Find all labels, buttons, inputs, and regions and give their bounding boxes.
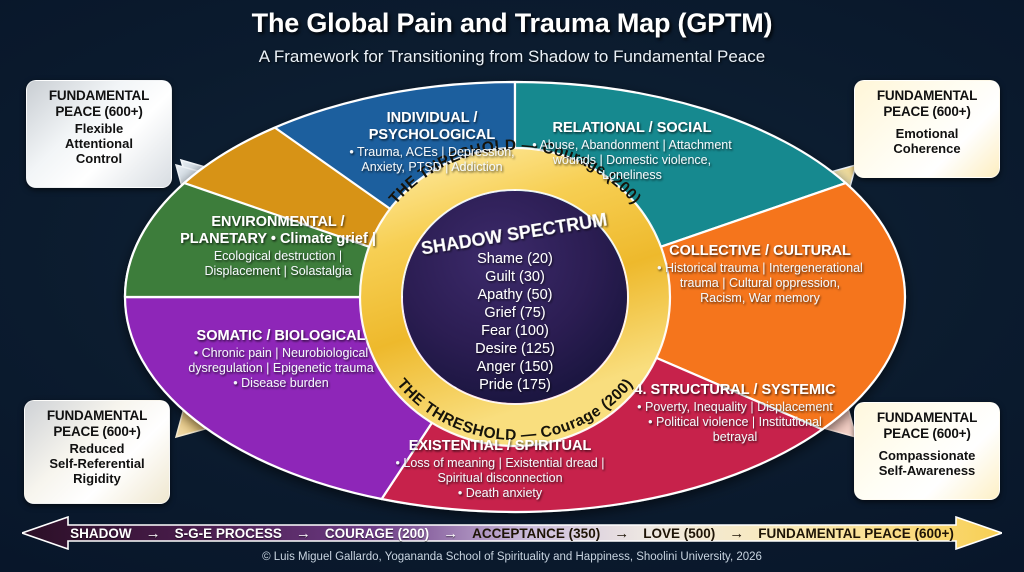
outcome-box-top-left[interactable]: FUNDAMENTAL PEACE (600+) Flexible Attent… — [26, 80, 172, 188]
progression-arrow-icon: → — [291, 525, 316, 542]
progression-step[interactable]: SHADOW — [61, 526, 141, 541]
progression-steps: SHADOW→S-G-E PROCESS→COURAGE (200)→ACCEP… — [22, 516, 1002, 550]
spectrum-item: Guilt (30) — [485, 269, 545, 285]
spectrum-item: Shame (20) — [477, 251, 553, 267]
outcome-head-line1: FUNDAMENTAL — [31, 408, 163, 424]
progression-step[interactable]: LOVE (500) — [634, 526, 724, 541]
progression-arrow-icon: → — [141, 525, 166, 542]
outcome-sub: Reduced Self-Referential Rigidity — [31, 442, 163, 487]
progression-bar: SHADOW→S-G-E PROCESS→COURAGE (200)→ACCEP… — [22, 516, 1002, 550]
progression-step[interactable]: COURAGE (200) — [316, 526, 438, 541]
outcome-box-top-right[interactable]: FUNDAMENTAL PEACE (600+) Emotional Coher… — [854, 80, 1000, 178]
outcome-head-line1: FUNDAMENTAL — [33, 88, 165, 104]
progression-arrow-icon: → — [609, 525, 634, 542]
outcome-sub: Flexible Attentional Control — [33, 122, 165, 167]
outcome-head-line2: PEACE (600+) — [861, 426, 993, 442]
spectrum-item: Apathy (50) — [478, 287, 553, 303]
outcome-sub: Emotional Coherence — [861, 127, 993, 157]
progression-arrow-icon: → — [438, 525, 463, 542]
outcome-head-line1: FUNDAMENTAL — [861, 88, 993, 104]
outcome-head-line1: FUNDAMENTAL — [861, 410, 993, 426]
outcome-head-line2: PEACE (600+) — [861, 104, 993, 120]
progression-arrow-icon: → — [724, 525, 749, 542]
spectrum-item: Grief (75) — [484, 305, 545, 321]
outcome-head-line2: PEACE (600+) — [31, 424, 163, 440]
spectrum-item: Fear (100) — [481, 323, 549, 339]
spectrum-item: Pride (175) — [479, 377, 551, 393]
spectrum-item: Anger (150) — [477, 359, 554, 375]
infographic-canvas: The Global Pain and Trauma Map (GPTM) A … — [0, 0, 1024, 572]
outcome-box-bottom-right[interactable]: FUNDAMENTAL PEACE (600+) Compassionate S… — [854, 402, 1000, 500]
progression-step[interactable]: FUNDAMENTAL PEACE (600+) — [749, 526, 963, 541]
copyright-footer: © Luis Miguel Gallardo, Yogananda School… — [0, 551, 1024, 563]
progression-step[interactable]: ACCEPTANCE (350) — [463, 526, 609, 541]
spectrum-item: Desire (125) — [475, 341, 555, 357]
outcome-head-line2: PEACE (600+) — [33, 104, 165, 120]
progression-step[interactable]: S-G-E PROCESS — [166, 526, 291, 541]
outcome-sub: Compassionate Self-Awareness — [861, 449, 993, 479]
outcome-box-bottom-left[interactable]: FUNDAMENTAL PEACE (600+) Reduced Self-Re… — [24, 400, 170, 504]
